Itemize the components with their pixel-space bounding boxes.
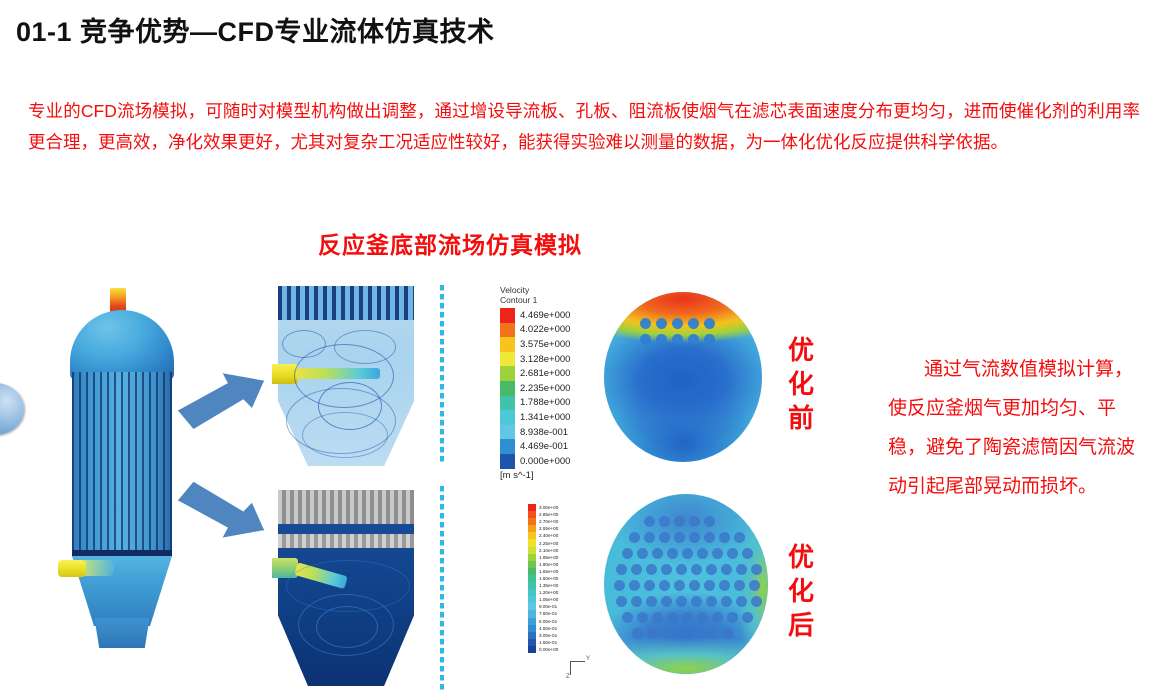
- filter-tube-dot: [616, 564, 627, 575]
- filter-tube-dot: [674, 580, 685, 591]
- legend-entry: 2.40e+00: [528, 532, 590, 539]
- vessel-dome: [70, 310, 174, 380]
- legend-entry: 3.128e+000: [500, 352, 595, 367]
- filter-tube-dot: [689, 516, 700, 527]
- legend-color-swatch: [500, 425, 515, 440]
- filter-tube-dot: [637, 548, 648, 559]
- axis-triad-indicator: Y Z: [566, 652, 606, 682]
- legend-value-label: 2.55e+00: [539, 526, 558, 531]
- streamline-panel-before: [272, 286, 420, 466]
- streamline-baffle-plate: [278, 534, 414, 548]
- filter-tube-dot: [719, 532, 730, 543]
- velocity-contour-legend-2: 3.00e+002.85e+002.70e+002.55e+002.40e+00…: [528, 504, 590, 653]
- legend-value-label: 1.20e+00: [539, 590, 558, 595]
- legend-entry: 9.00e-01: [528, 603, 590, 610]
- page-title: 01-1 竞争优势—CFD专业流体仿真技术: [16, 10, 495, 49]
- filter-tube-dot: [647, 628, 658, 639]
- legend-entry: 4.022e+000: [500, 323, 595, 338]
- filter-tube-dot: [629, 532, 640, 543]
- filter-tube-dot: [674, 532, 685, 543]
- streamline-vortex: [316, 606, 378, 648]
- legend-color-swatch: [528, 625, 536, 632]
- legend-color-swatch: [528, 618, 536, 625]
- legend-value-label: 1.50e-01: [539, 640, 557, 645]
- legend-entry: 2.55e+00: [528, 525, 590, 532]
- legend-entry: 2.70e+00: [528, 518, 590, 525]
- filter-tube-dot: [704, 516, 715, 527]
- legend-entry: 2.681e+000: [500, 366, 595, 381]
- legend-color-swatch: [500, 366, 515, 381]
- legend-color-swatch: [528, 532, 536, 539]
- legend-value-label: 3.575e+000: [520, 339, 570, 350]
- filter-tube-dot: [721, 564, 732, 575]
- legend-entry: 1.65e+00: [528, 568, 590, 575]
- filter-tube-dot: [712, 612, 723, 623]
- axis-z-label: Z: [566, 674, 570, 680]
- axis-y-line: [570, 661, 585, 662]
- streamline-tube-sheet: [278, 286, 414, 320]
- streamline-tube-sheet: [278, 490, 414, 524]
- filter-tube-dot: [667, 612, 678, 623]
- legend-value-label: 3.128e+000: [520, 354, 570, 365]
- legend-color-swatch: [500, 410, 515, 425]
- legend-entry: 8.938e-001: [500, 425, 595, 440]
- legend-value-label: 2.40e+00: [539, 533, 558, 538]
- legend-rows: 4.469e+0004.022e+0003.575e+0003.128e+000…: [500, 308, 595, 469]
- filter-tube-dot: [736, 596, 747, 607]
- filter-tube-dot: [644, 532, 655, 543]
- divider-dotted-bottom: [440, 486, 444, 691]
- legend-value-label: 0.000e+000: [520, 456, 570, 467]
- velocity-contour-legend: Velocity Contour 1 4.469e+0004.022e+0003…: [500, 286, 595, 481]
- label-after-optimization: 优化后: [782, 540, 820, 642]
- legend-color-swatch: [528, 632, 536, 639]
- filter-tube-dot: [676, 564, 687, 575]
- legend-color-swatch: [528, 610, 536, 617]
- filter-tube-dot: [652, 612, 663, 623]
- filter-tube-dot: [646, 596, 657, 607]
- legend-entry: 2.235e+000: [500, 381, 595, 396]
- filter-tube-dot: [632, 628, 643, 639]
- filter-tube-dot: [704, 532, 715, 543]
- filter-tube-dot: [736, 564, 747, 575]
- filter-tube-dot: [659, 516, 670, 527]
- legend-value-label: 1.05e+00: [539, 597, 558, 602]
- reactor-vessel-figure: [62, 288, 182, 660]
- filter-tube-dot: [661, 564, 672, 575]
- legend-title: Velocity Contour 1: [500, 286, 595, 305]
- legend-value-label: 2.10e+00: [539, 548, 558, 553]
- legend-color-swatch: [528, 554, 536, 561]
- legend-value-label: 6.00e-01: [539, 619, 557, 624]
- streamline-vortex: [282, 330, 326, 358]
- filter-tube-dot: [749, 580, 760, 591]
- legend-value-label: 3.00e-01: [539, 633, 557, 638]
- intro-paragraph: 专业的CFD流场模拟，可随时对模型机构做出调整，通过增设导流板、孔板、阻流板使烟…: [28, 96, 1140, 158]
- filter-tube-dot: [637, 612, 648, 623]
- label-after-text: 优化后: [788, 540, 814, 642]
- legend-entry: 3.575e+000: [500, 337, 595, 352]
- filter-tube-dot: [622, 548, 633, 559]
- axis-y-label: Y: [586, 656, 590, 662]
- vessel-body: [72, 372, 172, 552]
- filter-tube-dot: [692, 628, 703, 639]
- legend-units: [m s^-1]: [500, 470, 595, 481]
- filter-tube-dot: [656, 318, 667, 329]
- legend-entry: 1.95e+00: [528, 554, 590, 561]
- legend-entry: 7.50e-01: [528, 610, 590, 617]
- legend-entry: 1.50e+00: [528, 575, 590, 582]
- legend-value-label: 3.00e+00: [539, 505, 558, 510]
- filter-tube-dot: [622, 612, 633, 623]
- filter-tube-dot: [707, 628, 718, 639]
- filter-tube-dot: [742, 548, 753, 559]
- legend-color-swatch: [528, 504, 536, 511]
- legend-value-label: 2.235e+000: [520, 383, 570, 394]
- filter-tube-dot: [751, 564, 762, 575]
- filter-tube-dot: [721, 596, 732, 607]
- filter-tube-dot: [631, 596, 642, 607]
- legend-value-label: 1.50e+00: [539, 576, 558, 581]
- filter-tube-dot: [719, 580, 730, 591]
- filter-tube-dot: [674, 516, 685, 527]
- filter-tube-dot: [646, 564, 657, 575]
- legend-entry: 1.35e+00: [528, 582, 590, 589]
- filter-tube-dot: [652, 548, 663, 559]
- legend-color-swatch: [528, 547, 536, 554]
- legend-entry: 4.50e-01: [528, 625, 590, 632]
- filter-tube-dot: [672, 334, 683, 345]
- filter-tube-dot: [688, 318, 699, 329]
- filter-tube-dot: [682, 548, 693, 559]
- section-subtitle: 反应釜底部流场仿真模拟: [0, 226, 900, 260]
- filter-tube-dot: [616, 596, 627, 607]
- legend-value-label: 4.50e-01: [539, 626, 557, 631]
- legend-entry: 1.788e+000: [500, 396, 595, 411]
- legend-title-line2: Contour 1: [500, 296, 595, 306]
- filter-tube-dot: [644, 516, 655, 527]
- legend-color-swatch: [500, 396, 515, 411]
- legend-color-swatch: [500, 323, 515, 338]
- decorative-sphere: [0, 383, 24, 435]
- filter-tube-dot: [689, 532, 700, 543]
- legend-entry: 2.10e+00: [528, 547, 590, 554]
- filter-tube-dot: [688, 334, 699, 345]
- legend-value-label: 4.469e+000: [520, 310, 570, 321]
- legend-color-swatch: [528, 511, 536, 518]
- title-divider: [0, 62, 1154, 64]
- vessel-tube-sheet: [72, 550, 172, 557]
- vessel-inlet-jet: [84, 560, 114, 576]
- vessel-filter-tubes: [72, 372, 172, 552]
- filter-tube-dot: [672, 318, 683, 329]
- legend-color-swatch: [528, 639, 536, 646]
- legend-color-swatch: [500, 381, 515, 396]
- filter-tube-dot: [734, 532, 745, 543]
- legend-color-swatch: [528, 582, 536, 589]
- legend-entry: 1.80e+00: [528, 561, 590, 568]
- filter-tube-dot: [640, 334, 651, 345]
- streamline-panel-after: [272, 490, 424, 686]
- arrow-up-right-icon: [178, 372, 264, 434]
- legend-color-swatch: [500, 308, 515, 323]
- filter-tube-dot: [662, 628, 673, 639]
- legend-entry: 6.00e-01: [528, 618, 590, 625]
- conclusion-text: 通过气流数值模拟计算，使反应釜烟气更加均匀、平稳，避免了陶瓷滤筒因气流波动引起尾…: [888, 350, 1140, 506]
- label-before-text: 优化前: [788, 333, 814, 435]
- legend-value-label: 1.35e+00: [539, 583, 558, 588]
- legend-entry: 1.20e+00: [528, 589, 590, 596]
- filter-tube-dot: [704, 580, 715, 591]
- legend-color-swatch: [528, 575, 536, 582]
- legend-value-label: 7.50e-01: [539, 611, 557, 616]
- legend-rows: 3.00e+002.85e+002.70e+002.55e+002.40e+00…: [528, 504, 590, 653]
- label-before-optimization: 优化前: [782, 333, 820, 435]
- legend-value-label: 1.95e+00: [539, 555, 558, 560]
- legend-value-label: 2.25e+00: [539, 541, 558, 546]
- legend-color-swatch: [528, 596, 536, 603]
- cross-section-contour-after: [604, 494, 768, 674]
- streamline-vortex: [334, 330, 396, 364]
- filter-tube-dot: [704, 318, 715, 329]
- filter-tube-dot: [727, 612, 738, 623]
- legend-entry: 1.05e+00: [528, 596, 590, 603]
- legend-entry: 3.00e+00: [528, 504, 590, 511]
- legend-value-label: 4.469e-001: [520, 441, 568, 452]
- legend-color-swatch: [500, 352, 515, 367]
- legend-color-swatch: [528, 561, 536, 568]
- filter-tube-dot: [691, 564, 702, 575]
- legend-entry: 0.000e+000: [500, 454, 595, 469]
- legend-entry: 1.50e-01: [528, 639, 590, 646]
- filter-tube-dot: [631, 564, 642, 575]
- legend-value-label: 1.80e+00: [539, 562, 558, 567]
- divider-dotted-top: [440, 285, 444, 463]
- legend-color-swatch: [528, 568, 536, 575]
- filter-tube-dot: [644, 580, 655, 591]
- filter-tube-dot: [640, 318, 651, 329]
- filter-tube-dot: [659, 580, 670, 591]
- filter-tube-dot: [697, 612, 708, 623]
- legend-entry: 4.469e-001: [500, 439, 595, 454]
- legend-value-label: 1.788e+000: [520, 397, 570, 408]
- contour-field: [604, 292, 762, 462]
- filter-tube-dot: [691, 596, 702, 607]
- vessel-gas-inlet: [58, 560, 86, 577]
- legend-value-label: 9.00e-01: [539, 604, 557, 609]
- legend-color-swatch: [528, 603, 536, 610]
- filter-tube-dot: [727, 548, 738, 559]
- axis-z-line: [570, 661, 571, 675]
- filter-tube-dot: [676, 596, 687, 607]
- legend-value-label: 4.022e+000: [520, 324, 570, 335]
- filter-tube-dot: [677, 628, 688, 639]
- legend-entry: 3.00e-01: [528, 632, 590, 639]
- legend-color-swatch: [500, 439, 515, 454]
- filter-tube-dot: [734, 580, 745, 591]
- filter-tube-dot: [656, 334, 667, 345]
- legend-entry: 2.25e+00: [528, 539, 590, 546]
- filter-tube-dot: [706, 596, 717, 607]
- legend-value-label: 2.85e+00: [539, 512, 558, 517]
- filter-tube-dot: [697, 548, 708, 559]
- legend-entry: 4.469e+000: [500, 308, 595, 323]
- legend-color-swatch: [528, 518, 536, 525]
- filter-tube-dot: [742, 612, 753, 623]
- streamline-vortex: [286, 560, 410, 612]
- arrow-down-right-icon: [178, 478, 264, 540]
- streamline-vortex: [302, 412, 388, 458]
- filter-tube-dot: [689, 580, 700, 591]
- legend-entry: 1.341e+000: [500, 410, 595, 425]
- filter-tube-dot: [751, 596, 762, 607]
- filter-tube-dot: [704, 334, 715, 345]
- legend-color-swatch: [528, 539, 536, 546]
- legend-value-label: 1.341e+000: [520, 412, 570, 423]
- legend-value-label: 2.681e+000: [520, 368, 570, 379]
- filter-tube-dot: [661, 596, 672, 607]
- legend-color-swatch: [528, 646, 536, 653]
- legend-value-label: 8.938e-001: [520, 427, 568, 438]
- legend-value-label: 1.65e+00: [539, 569, 558, 574]
- filter-tube-dot: [614, 580, 625, 591]
- legend-value-label: 2.70e+00: [539, 519, 558, 524]
- vessel-bottom-outlet: [92, 618, 152, 648]
- legend-color-swatch: [528, 589, 536, 596]
- cross-section-contour-before: [604, 292, 762, 462]
- filter-tube-dot: [629, 580, 640, 591]
- filter-tube-dot: [667, 548, 678, 559]
- filter-tube-dot: [659, 532, 670, 543]
- filter-tube-dot: [682, 612, 693, 623]
- legend-value-label: 0.00e+00: [539, 647, 558, 652]
- legend-entry: 2.85e+00: [528, 511, 590, 518]
- legend-color-swatch: [500, 454, 515, 469]
- legend-color-swatch: [500, 337, 515, 352]
- filter-tube-dot: [712, 548, 723, 559]
- filter-tube-dot: [706, 564, 717, 575]
- filter-tube-dot: [722, 628, 733, 639]
- legend-color-swatch: [528, 525, 536, 532]
